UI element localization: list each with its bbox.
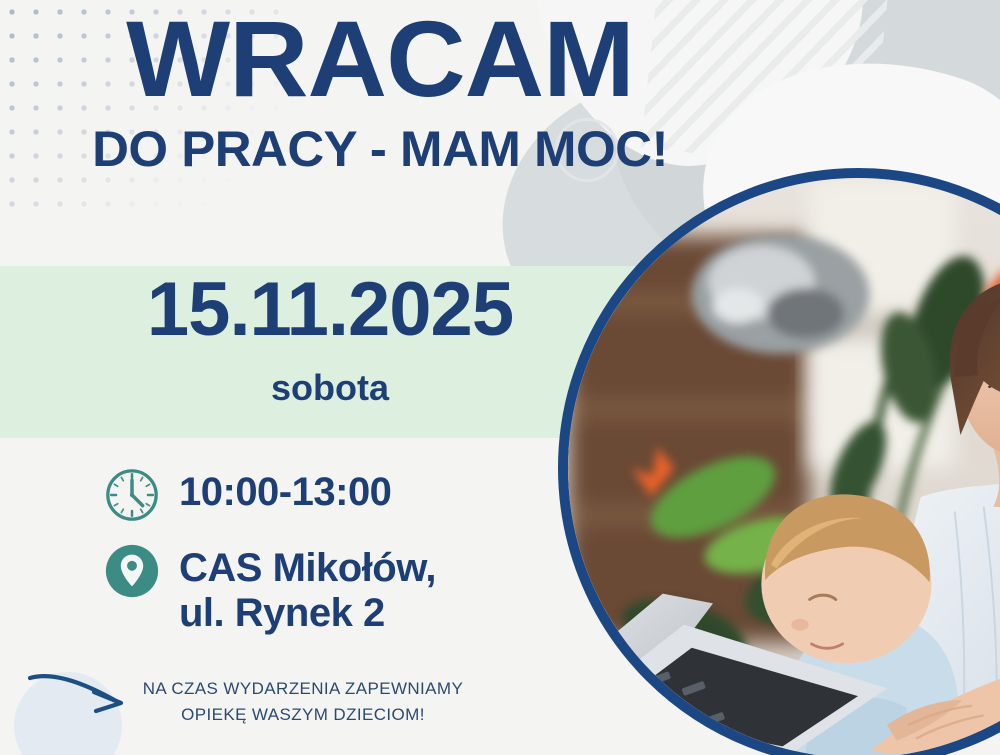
- event-location-row: CAS Mikołów, ul. Rynek 2: [103, 542, 573, 636]
- event-date: 15.11.2025: [0, 272, 660, 348]
- headline-block: WRACAM DO PRACY - MAM MOC!: [0, 0, 760, 177]
- clock-icon: [103, 466, 161, 524]
- page-title: WRACAM: [0, 4, 768, 114]
- event-location-label: CAS Mikołów, ul. Rynek 2: [179, 542, 436, 636]
- event-time-label: 10:00-13:00: [179, 466, 391, 515]
- page-subtitle: DO PRACY - MAM MOC!: [0, 122, 768, 177]
- event-weekday: sobota: [0, 370, 660, 406]
- event-date-block: 15.11.2025 sobota: [0, 272, 660, 406]
- curved-arrow-icon: [24, 668, 140, 730]
- event-details-list: 10:00-13:00 CAS Mikołów, ul. Rynek 2: [103, 466, 573, 654]
- poster: WRACAM DO PRACY - MAM MOC! 15.11.2025 so…: [0, 0, 1000, 755]
- event-time-row: 10:00-13:00: [103, 466, 573, 524]
- footer-note: NA CZAS WYDARZENIA ZAPEWNIAMY OPIEKĘ WAS…: [128, 676, 478, 727]
- location-pin-icon: [103, 542, 161, 600]
